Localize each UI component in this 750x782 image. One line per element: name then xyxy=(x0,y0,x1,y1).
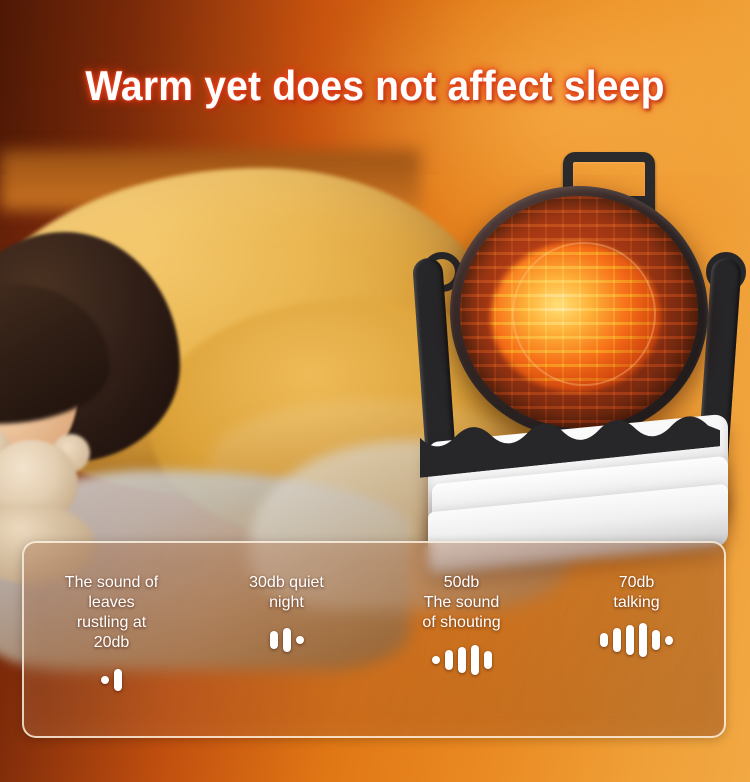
decibel-cell-20db: The sound of leaves rustling at 20db xyxy=(24,543,199,695)
waveform-bar xyxy=(445,650,453,670)
waveform-bar xyxy=(600,633,608,647)
heater-product[interactable] xyxy=(404,152,750,542)
decibel-cell-70db: 70db talking xyxy=(549,543,724,655)
decibel-label: 30db quiet night xyxy=(249,573,324,613)
waveform-bar xyxy=(471,645,479,675)
waveform-bar xyxy=(484,651,492,669)
waveform-bar xyxy=(101,676,109,684)
headline-text: Warm yet does not affect sleep xyxy=(26,62,724,110)
decibel-label: 70db talking xyxy=(613,573,659,613)
waveform-bar xyxy=(114,669,122,691)
decibel-cell-30db: 30db quiet night xyxy=(199,543,374,655)
waveform-bar xyxy=(626,625,634,655)
waveform-bar xyxy=(652,630,660,650)
waveform-bar xyxy=(458,647,466,673)
grille-inner-ring xyxy=(512,242,656,386)
heater-grille xyxy=(460,196,698,428)
heater-head xyxy=(450,186,708,438)
waveform-bar xyxy=(283,628,291,652)
waveform-icon-30db xyxy=(270,625,304,655)
waveform-bar xyxy=(296,636,304,644)
waveform-bar xyxy=(432,656,440,664)
decibel-label: The sound of leaves rustling at 20db xyxy=(65,573,158,653)
waveform-icon-50db xyxy=(432,645,492,675)
waveform-icon-20db xyxy=(101,665,122,695)
waveform-bar xyxy=(270,631,278,649)
decibel-comparison-panel: The sound of leaves rustling at 20db 30d… xyxy=(22,541,726,738)
decibel-cell-50db: 50db The sound of shouting xyxy=(374,543,549,675)
waveform-bar xyxy=(639,623,647,657)
decibel-label: 50db The sound of shouting xyxy=(422,573,500,633)
waveform-bar xyxy=(613,628,621,652)
waveform-bar xyxy=(665,636,673,645)
waveform-icon-70db xyxy=(600,625,673,655)
poster-canvas: Warm yet does not affect sleep T xyxy=(0,0,750,782)
